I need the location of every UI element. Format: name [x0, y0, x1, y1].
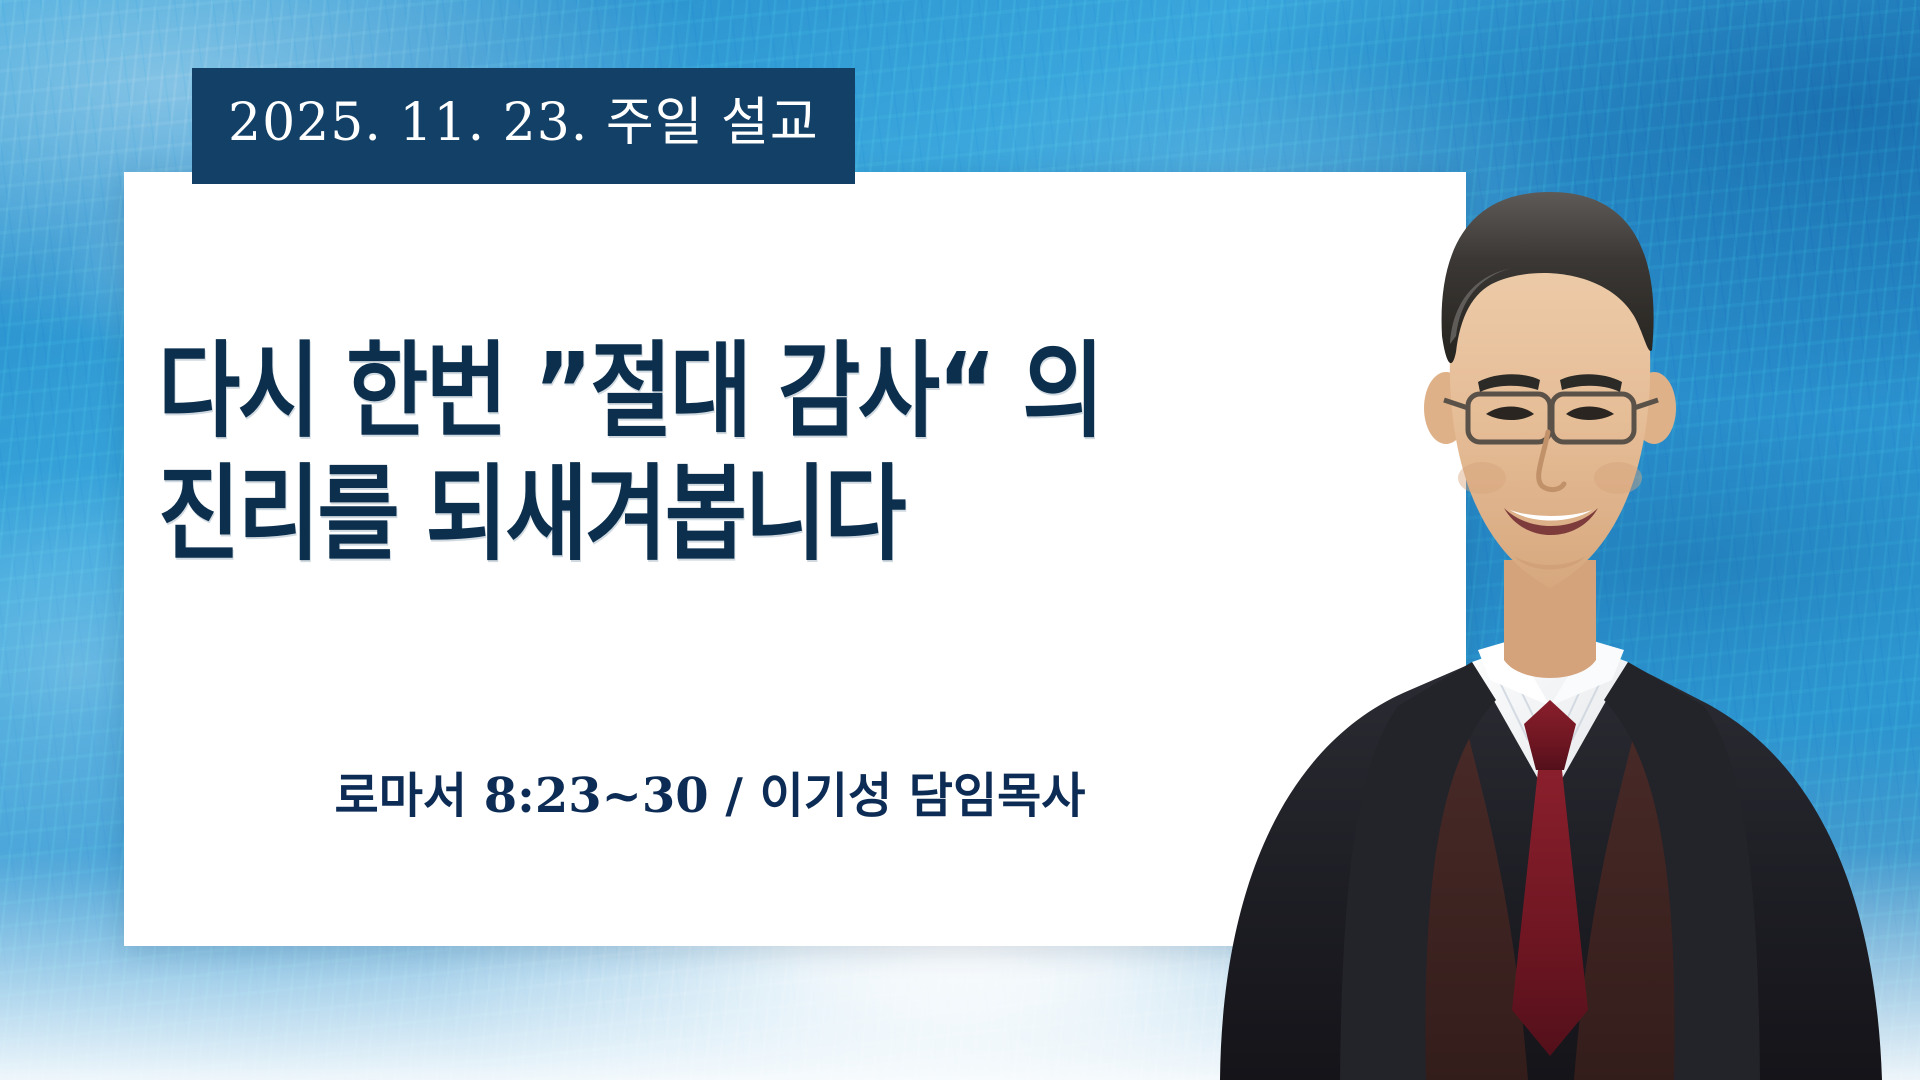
headline-line-1: 다시 한번 ”절대 감사“ 의 [158, 330, 1276, 453]
scripture-reference-block: 로마서 8:23~30 / 이기성 담임목사 [160, 770, 1260, 823]
scripture-reference-text: 로마서 8:23~30 / 이기성 담임목사 [160, 770, 1260, 823]
date-badge-label: 2025. 11. 23. 주일 설교 [228, 97, 819, 149]
sermon-thumbnail-graphic: 2025. 11. 23. 주일 설교 다시 한번 ”절대 감사“ 의 진리를 … [0, 0, 1920, 1080]
bottom-edge [0, 1070, 1920, 1080]
headline: 다시 한번 ”절대 감사“ 의 진리를 되새겨봅니다 [158, 330, 1458, 575]
headline-line-2: 진리를 되새겨봅니다 [158, 453, 1276, 576]
date-badge: 2025. 11. 23. 주일 설교 [192, 68, 855, 184]
